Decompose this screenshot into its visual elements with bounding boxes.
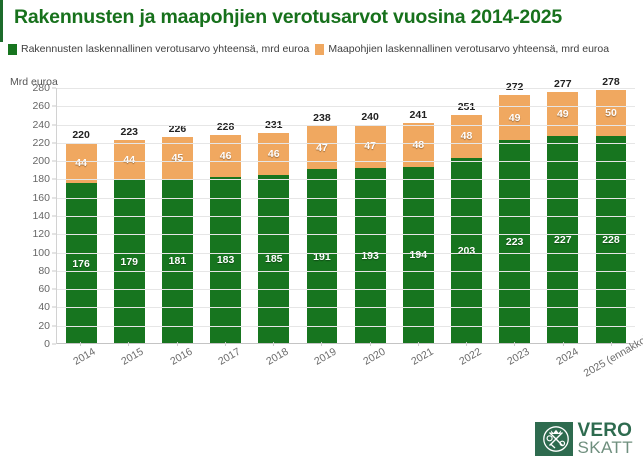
x-axis-tick-label: 2021 <box>409 346 435 368</box>
x-axis-tick-mark <box>177 342 178 346</box>
bar-segment-value: 48 <box>461 130 473 142</box>
bar-segment-maapohjat[interactable]: 48 <box>403 123 434 167</box>
bar-segment-rakennukset[interactable]: 181 <box>162 179 193 344</box>
left-accent-band <box>0 0 3 42</box>
gridline <box>57 143 635 144</box>
bar-stack[interactable]: 22344179 <box>114 140 145 344</box>
x-axis-tick: 2021 <box>394 346 442 406</box>
bar-segment-value: 179 <box>120 256 138 268</box>
x-axis-tick-mark <box>128 342 129 346</box>
x-axis: 2014201520162017201820192020202120222023… <box>56 346 635 406</box>
bar-segment-maapohjat[interactable]: 47 <box>307 126 338 169</box>
bar-segment-value: 44 <box>75 157 87 169</box>
bar-segment-value: 194 <box>410 249 428 261</box>
bar-segment-rakennukset[interactable]: 228 <box>596 136 627 344</box>
bar-segment-rakennukset[interactable]: 223 <box>499 140 530 344</box>
bar-segment-value: 49 <box>509 112 521 124</box>
x-axis-tick: 2019 <box>297 346 345 406</box>
bar-segment-maapohjat[interactable]: 49 <box>499 95 530 140</box>
x-axis-tick-label: 2018 <box>264 346 290 368</box>
legend-label-rakennukset: Rakennusten laskennallinen verotusarvo y… <box>21 43 309 55</box>
bar-segment-value: 228 <box>602 234 620 246</box>
bar-segment-maapohjat[interactable]: 49 <box>547 92 578 137</box>
bar-segment-maapohjat[interactable]: 46 <box>258 133 289 175</box>
bar-stack[interactable]: 22846183 <box>210 135 241 344</box>
bar-segment-value: 203 <box>458 245 476 257</box>
x-axis-tick-label: 2020 <box>361 346 387 368</box>
bar-segment-value: 181 <box>169 255 187 267</box>
x-axis-tick: 2022 <box>442 346 490 406</box>
chart-page: Rakennusten ja maapohjien verotusarvot v… <box>0 0 643 465</box>
gridline <box>57 271 635 272</box>
gridline <box>57 106 635 107</box>
y-axis-tick-label: 180 <box>32 173 50 185</box>
y-axis-tick-label: 100 <box>32 247 50 259</box>
coat-of-arms-icon <box>535 422 573 456</box>
x-axis-tick-mark <box>225 342 226 346</box>
gridline <box>57 216 635 217</box>
bar-segment-maapohjat[interactable]: 50 <box>596 90 627 136</box>
x-axis-tick-mark <box>418 342 419 346</box>
x-axis-tick: 2024 <box>539 346 587 406</box>
x-axis-tick-mark <box>80 342 81 346</box>
bar-segment-rakennukset[interactable]: 185 <box>258 175 289 344</box>
gridline <box>57 289 635 290</box>
bar-segment-value: 46 <box>268 148 280 160</box>
bar-segment-maapohjat[interactable]: 46 <box>210 135 241 177</box>
legend-swatch-green <box>8 44 17 55</box>
x-axis-tick: 2020 <box>346 346 394 406</box>
bar-total-label: 228 <box>217 121 235 133</box>
gridline <box>57 253 635 254</box>
bar-segment-rakennukset[interactable]: 183 <box>210 177 241 344</box>
bar-segment-rakennukset[interactable]: 191 <box>307 169 338 344</box>
plot-area: 2204417622344179226451812284618323146185… <box>56 88 635 344</box>
logo-skatt-text: SKATT <box>577 440 633 456</box>
bar-segment-rakennukset[interactable]: 193 <box>355 168 386 344</box>
page-title: Rakennusten ja maapohjien verotusarvot v… <box>14 6 629 29</box>
x-axis-tick-label: 2023 <box>506 346 532 368</box>
x-axis-tick-label: 2014 <box>71 346 97 368</box>
bar-segment-value: 176 <box>72 258 90 270</box>
gridline <box>57 307 635 308</box>
bar-stack[interactable]: 25148203 <box>451 115 482 344</box>
bar-stack[interactable]: 23146185 <box>258 133 289 344</box>
gridline <box>57 179 635 180</box>
y-axis-tick-label: 80 <box>38 265 50 277</box>
bar-segment-value: 227 <box>554 234 572 246</box>
x-axis-tick-mark <box>611 342 612 346</box>
x-axis-tick-label: 2016 <box>168 346 194 368</box>
bar-total-label: 240 <box>361 111 379 123</box>
y-axis-tick-label: 140 <box>32 210 50 222</box>
gridline <box>57 88 635 89</box>
y-axis-tick-label: 160 <box>32 192 50 204</box>
y-axis-tick-label: 120 <box>32 228 50 240</box>
bar-segment-maapohjat[interactable]: 44 <box>66 143 97 183</box>
y-axis-tick-label: 60 <box>38 283 50 295</box>
logo-wordmark: VERO SKATT <box>577 422 633 456</box>
y-axis-tick-label: 260 <box>32 100 50 112</box>
bar-total-label: 223 <box>120 126 138 138</box>
bar-segment-rakennukset[interactable]: 227 <box>547 136 578 344</box>
bar-stack[interactable]: 22645181 <box>162 137 193 344</box>
x-axis-tick: 2023 <box>490 346 538 406</box>
y-axis-tick-label: 280 <box>32 82 50 94</box>
y-axis-tick-label: 0 <box>44 338 50 350</box>
x-axis-tick-label: 2015 <box>120 346 146 368</box>
bar-total-label: 220 <box>72 129 90 141</box>
bar-stack[interactable]: 22044176 <box>66 143 97 344</box>
chart-legend: Rakennusten laskennallinen verotusarvo y… <box>8 41 638 57</box>
y-axis-tick-label: 40 <box>38 301 50 313</box>
x-axis-tick: 2016 <box>153 346 201 406</box>
x-axis-tick-label: 2019 <box>313 346 339 368</box>
gridline <box>57 234 635 235</box>
bar-total-label: 241 <box>410 109 428 121</box>
y-axis-tick-label: 220 <box>32 137 50 149</box>
bar-segment-value: 50 <box>605 107 617 119</box>
x-axis-tick-mark <box>514 342 515 346</box>
legend-label-maapohjat: Maapohjien laskennallinen verotusarvo yh… <box>328 43 609 55</box>
bar-segment-rakennukset[interactable]: 179 <box>114 180 145 344</box>
x-axis-tick-label: 2017 <box>216 346 242 368</box>
x-axis-tick-mark <box>273 342 274 346</box>
bar-segment-value: 46 <box>220 150 232 162</box>
bar-segment-value: 185 <box>265 253 283 265</box>
legend-swatch-orange <box>315 44 324 55</box>
y-axis-tick-label: 200 <box>32 155 50 167</box>
x-axis-tick-mark <box>321 342 322 346</box>
gridline <box>57 161 635 162</box>
x-axis-tick: 2014 <box>56 346 104 406</box>
y-axis: 280260240220200180160140120100806040200 <box>0 88 56 344</box>
bar-total-label: 278 <box>602 76 620 88</box>
bar-segment-value: 49 <box>557 108 569 120</box>
gridline <box>57 125 635 126</box>
bar-total-label: 238 <box>313 112 331 124</box>
bar-segment-value: 48 <box>412 139 424 151</box>
bar-stack[interactable]: 27749227 <box>547 92 578 344</box>
legend-item-rakennukset[interactable]: Rakennusten laskennallinen verotusarvo y… <box>8 43 309 55</box>
legend-item-maapohjat[interactable]: Maapohjien laskennallinen verotusarvo yh… <box>315 43 609 55</box>
gridline <box>57 326 635 327</box>
plot-wrapper: 280260240220200180160140120100806040200 … <box>0 88 643 358</box>
bar-segment-value: 193 <box>361 250 379 262</box>
x-axis-tick: 2018 <box>249 346 297 406</box>
bar-segment-rakennukset[interactable]: 203 <box>451 158 482 344</box>
x-axis-tick-label: 2024 <box>554 346 580 368</box>
gridline <box>57 343 635 344</box>
x-axis-tick: 2015 <box>104 346 152 406</box>
x-axis-tick: 2017 <box>201 346 249 406</box>
bar-segment-maapohjat[interactable]: 48 <box>451 115 482 159</box>
x-axis-tick-mark <box>466 342 467 346</box>
bar-segment-value: 183 <box>217 254 235 266</box>
x-axis-tick: 2025 (ennakko) <box>587 346 635 406</box>
bar-segment-rakennukset[interactable]: 194 <box>403 167 434 344</box>
y-axis-tick-label: 240 <box>32 119 50 131</box>
x-axis-tick-mark <box>563 342 564 346</box>
y-axis-tick-label: 20 <box>38 320 50 332</box>
vero-skatt-logo: VERO SKATT <box>535 422 633 456</box>
x-axis-tick-mark <box>370 342 371 346</box>
gridline <box>57 198 635 199</box>
bar-segment-rakennukset[interactable]: 176 <box>66 183 97 344</box>
bar-segment-value: 223 <box>506 236 524 248</box>
x-axis-tick-label: 2022 <box>457 346 483 368</box>
